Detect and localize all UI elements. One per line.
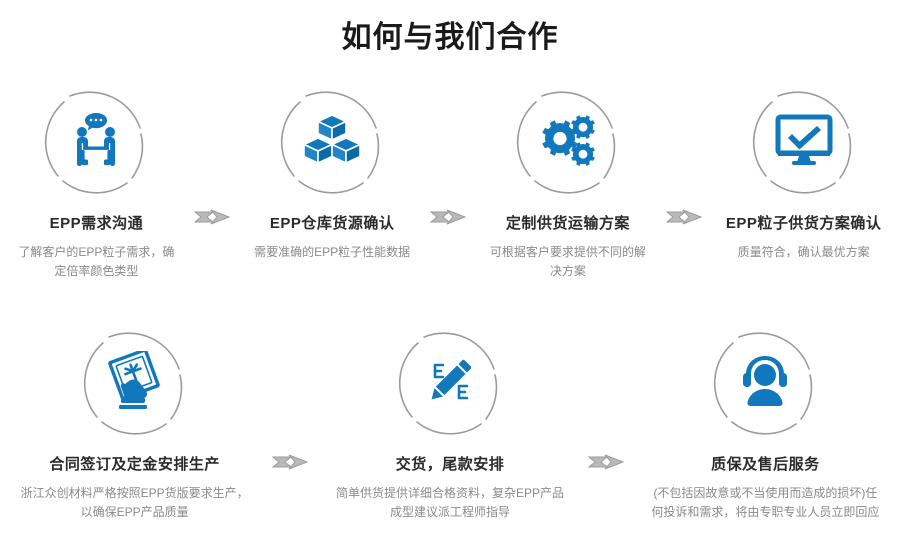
step-title: EPP粒子供货方案确认 bbox=[726, 214, 882, 234]
process-step-5[interactable]: 合同签订及定金安排生产 浙江众创材料严格按照EPP货版要求生产，以确保EPP产品… bbox=[0, 319, 269, 522]
monitor-check-icon bbox=[773, 109, 835, 171]
step-description: 了解客户的EPP粒子需求，确定倍率颜色类型 bbox=[0, 243, 193, 281]
process-step-7[interactable]: 质保及售后服务 (不包括因故意或不当使用而造成的损坏)任何投诉和需求，将由专职专… bbox=[631, 319, 900, 522]
step-arrow-3 bbox=[664, 78, 707, 228]
step-title: EPP仓库货源确认 bbox=[270, 214, 395, 234]
step-description: (不包括因故意或不当使用而造成的损坏)任何投诉和需求，将由专职专业人员立即回应 bbox=[631, 484, 900, 522]
step-description: 质量符合，确认最优方案 bbox=[724, 243, 884, 262]
step-icon-ring-7 bbox=[703, 319, 827, 443]
process-step-6[interactable]: 交货，尾款安排 简单供货提供详细合格资料，复杂EPP产品成型建议派工程师指导 bbox=[315, 319, 584, 522]
double-chevron-right-icon bbox=[429, 206, 471, 228]
meeting-discussion-icon bbox=[65, 109, 127, 171]
step-description: 简单供货提供详细合格资料，复杂EPP产品成型建议派工程师指导 bbox=[315, 484, 584, 522]
pencil-signing-icon bbox=[419, 350, 481, 412]
step-icon-ring-1 bbox=[34, 78, 158, 202]
headset-support-icon bbox=[734, 350, 796, 412]
step-title: 质保及售后服务 bbox=[711, 455, 820, 475]
gears-icon bbox=[537, 109, 599, 171]
stacked-boxes-icon bbox=[301, 109, 363, 171]
step-description: 浙江众创材料严格按照EPP货版要求生产，以确保EPP产品质量 bbox=[0, 484, 269, 522]
step-title: 合同签订及定金安排生产 bbox=[49, 455, 220, 475]
step-icon-ring-3 bbox=[506, 78, 630, 202]
page-title: 如何与我们合作 bbox=[0, 0, 900, 60]
double-chevron-right-icon bbox=[271, 451, 313, 473]
process-step-2[interactable]: EPP仓库货源确认 需要准确的EPP粒子性能数据 bbox=[236, 78, 429, 262]
step-icon-ring-2 bbox=[270, 78, 394, 202]
double-chevron-right-icon bbox=[193, 206, 235, 228]
process-row-1: EPP需求沟通 了解客户的EPP粒子需求，确定倍率颜色类型 bbox=[0, 78, 900, 281]
contract-stamp-icon bbox=[104, 350, 166, 412]
step-arrow-4 bbox=[269, 319, 315, 473]
step-title: EPP需求沟通 bbox=[50, 214, 144, 234]
step-title: 定制供货运输方案 bbox=[506, 214, 630, 234]
double-chevron-right-icon bbox=[587, 451, 629, 473]
step-icon-ring-6 bbox=[388, 319, 512, 443]
step-icon-ring-5 bbox=[73, 319, 197, 443]
step-title: 交货，尾款安排 bbox=[396, 455, 505, 475]
step-icon-ring-4 bbox=[742, 78, 866, 202]
process-step-3[interactable]: 定制供货运输方案 可根据客户要求提供不同的解决方案 bbox=[472, 78, 665, 281]
cooperation-process-page: 如何与我们合作 bbox=[0, 0, 900, 522]
double-chevron-right-icon bbox=[665, 206, 707, 228]
step-arrow-2 bbox=[428, 78, 471, 228]
step-arrow-1 bbox=[193, 78, 236, 228]
step-description: 可根据客户要求提供不同的解决方案 bbox=[472, 243, 665, 281]
process-step-4[interactable]: EPP粒子供货方案确认 质量符合，确认最优方案 bbox=[707, 78, 900, 262]
process-step-1[interactable]: EPP需求沟通 了解客户的EPP粒子需求，确定倍率颜色类型 bbox=[0, 78, 193, 281]
step-arrow-5 bbox=[585, 319, 631, 473]
process-row-2: 合同签订及定金安排生产 浙江众创材料严格按照EPP货版要求生产，以确保EPP产品… bbox=[0, 319, 900, 522]
step-description: 需要准确的EPP粒子性能数据 bbox=[240, 243, 424, 262]
